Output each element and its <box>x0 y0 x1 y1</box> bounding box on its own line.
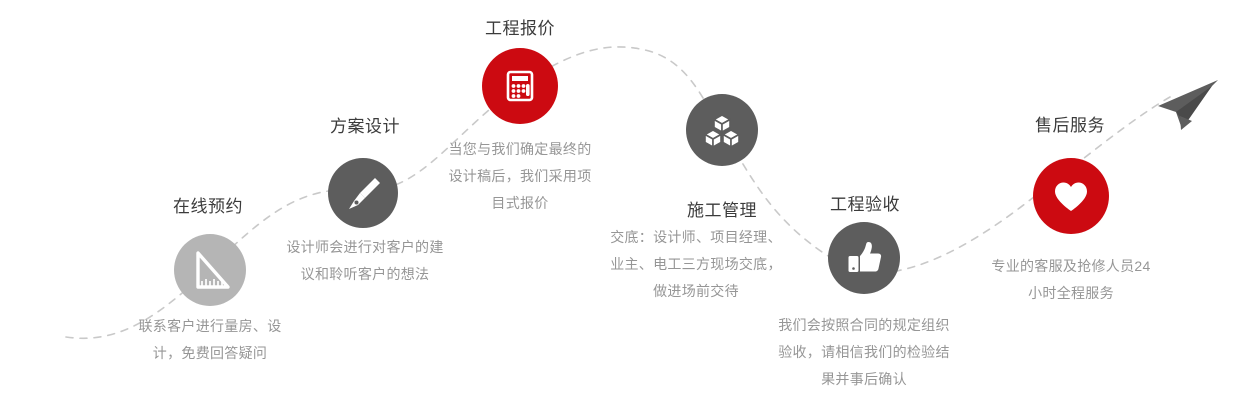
step-1-badge[interactable] <box>174 234 246 306</box>
step-2-title: 方案设计 <box>275 112 455 137</box>
fountain-pen-icon <box>341 171 385 215</box>
step-2-desc: 设计师会进行对客户的建议和聆听客户的想法 <box>281 234 449 288</box>
step-1-title: 在线预约 <box>118 192 298 217</box>
step-3-title: 工程报价 <box>430 14 610 39</box>
step-5-title: 工程验收 <box>775 190 955 215</box>
step-2-badge[interactable] <box>328 158 398 228</box>
paper-plane-icon <box>1150 78 1220 138</box>
step-5-badge[interactable] <box>828 222 900 294</box>
triangle-ruler-icon <box>187 247 233 293</box>
calculator-icon <box>498 64 542 108</box>
step-5-desc: 我们会按照合同的规定组织验收，请相信我们的检验结果并事后确认 <box>778 312 950 393</box>
step-6-desc: 专业的客服及抢修人员24小时全程服务 <box>988 253 1154 307</box>
process-flow-diagram: 在线预约 联系客户进行量房、设计，免费回答疑问 方案设 <box>0 0 1245 402</box>
step-3-desc: 当您与我们确定最终的设计稿后，我们采用项目式报价 <box>444 136 596 217</box>
step-4-desc: 交底：设计师、项目经理、业主、电工三方现场交底，做进场前交待 <box>607 224 785 305</box>
step-6-badge[interactable] <box>1033 158 1109 234</box>
step-4-badge[interactable] <box>686 94 758 166</box>
step-1-desc: 联系客户进行量房、设计，免费回答疑问 <box>128 313 292 367</box>
thumbs-up-icon <box>842 236 886 280</box>
step-3-badge[interactable] <box>482 48 558 124</box>
heart-icon <box>1048 173 1094 219</box>
step-6-title: 售后服务 <box>980 111 1160 136</box>
boxes-icon <box>699 107 745 153</box>
